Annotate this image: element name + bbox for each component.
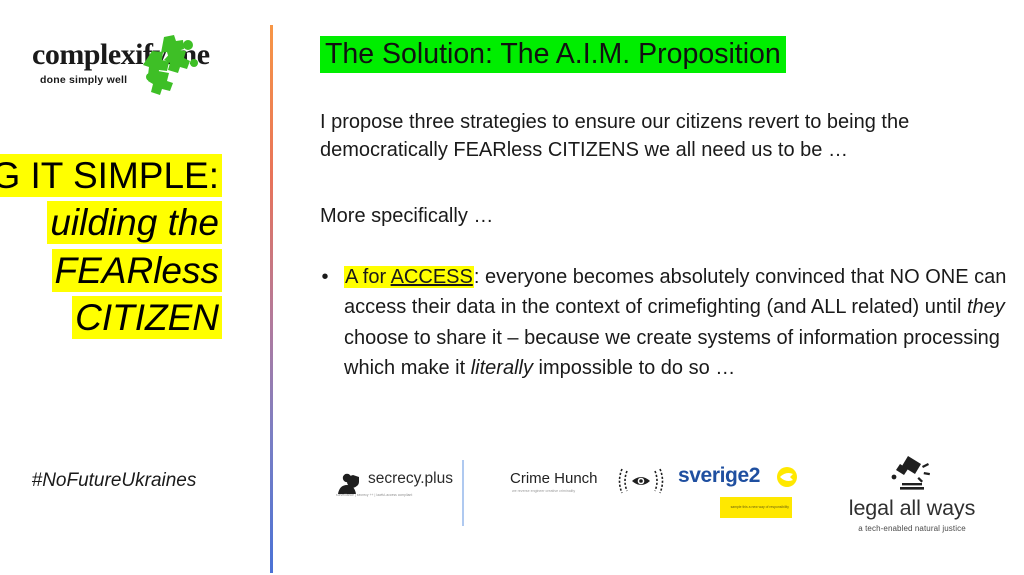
title-line-4: CITIZEN	[0, 294, 222, 341]
logo-crime-hunch-name: Crime Hunch	[510, 470, 598, 487]
more-specifically-paragraph: More specifically …	[320, 202, 1010, 230]
logo-legal-all-ways-name: legal all ways	[822, 496, 1002, 521]
logo-sverige2[interactable]: sverige2 sample this a new way of respon…	[678, 464, 810, 524]
slide-canvas: complexify.me done simply well G IT SIMP…	[0, 0, 1024, 575]
logo-crime-hunch[interactable]: Crime Hunch we reverse engineer creative…	[510, 470, 670, 510]
eye-icon	[614, 466, 668, 496]
partner-logo-strip: secrecy.plus surveillance | secrecy ++ |…	[274, 448, 1024, 563]
left-panel: complexify.me done simply well G IT SIMP…	[0, 0, 262, 575]
logo-secrecy-plus-tagline: surveillance | secrecy ++ | lawful-acces…	[336, 492, 454, 498]
title-line-1: G IT SIMPLE:	[0, 152, 222, 199]
bullet-italic-literally: literally	[471, 357, 533, 379]
bullet-label-a: A for	[345, 266, 391, 288]
bullet-text: A for ACCESS: everyone becomes absolutel…	[344, 262, 1010, 384]
logo-secrecy-plus[interactable]: secrecy.plus surveillance | secrecy ++ |…	[336, 470, 458, 510]
yellow-disc-icon	[776, 466, 798, 488]
intro-paragraph: I propose three strategies to ensure our…	[320, 108, 1010, 165]
title-line-3-text: FEARless	[52, 249, 222, 292]
bullet-item-access: • A for ACCESS: everyone becomes absolut…	[320, 262, 1010, 384]
title-line-1-text: G IT SIMPLE:	[0, 154, 222, 197]
logo-sverige2-name: sverige2	[678, 464, 760, 488]
title-line-4-text: CITIZEN	[72, 296, 222, 339]
gavel-icon	[886, 452, 938, 494]
brand-logo-tagline: done simply well	[40, 74, 127, 86]
logo-legal-all-ways[interactable]: legal all ways a tech-enabled natural ju…	[822, 452, 1002, 548]
bullet-rest-3: impossible to do so …	[533, 357, 735, 379]
vertical-divider	[270, 25, 273, 573]
section-headline: The Solution: The A.I.M. Proposition	[320, 38, 786, 71]
logo-secrecy-plus-name: secrecy.plus	[368, 470, 453, 488]
bullet-highlight: A for ACCESS	[344, 266, 474, 288]
brand-logo: complexify.me done simply well	[24, 38, 239, 100]
person-shield-icon	[336, 473, 362, 494]
title-line-2-text: uilding the	[47, 201, 222, 244]
title-line-3: FEARless	[0, 247, 222, 294]
logo-divider	[462, 460, 464, 526]
brand-logo-wordmark: complexify.me	[32, 38, 210, 72]
slide-title: G IT SIMPLE: uilding the FEARless CITIZE…	[0, 152, 222, 341]
bullet-label-access: ACCESS	[391, 266, 473, 288]
logo-legal-all-ways-tagline: a tech-enabled natural justice	[822, 524, 1002, 533]
bullet-marker: •	[320, 262, 330, 384]
logo-sverige2-subtext: sample this a new way of responsibility	[720, 497, 792, 518]
logo-crime-hunch-tagline: we reverse engineer creative criminality	[512, 489, 575, 493]
section-headline-text: The Solution: The A.I.M. Proposition	[320, 36, 786, 73]
hashtag-label: #NoFutureUkraines	[0, 470, 228, 492]
bullet-italic-they: they	[967, 296, 1005, 318]
title-line-2: uilding the	[0, 199, 222, 246]
